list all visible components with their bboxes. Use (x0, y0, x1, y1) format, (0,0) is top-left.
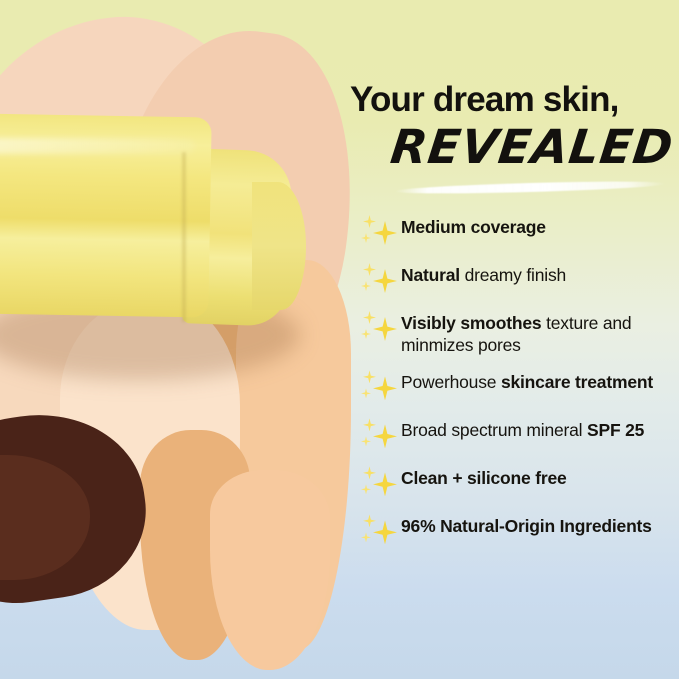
product-tube-highlight (0, 138, 195, 154)
sparkle-icon (359, 466, 401, 500)
feature-bold: 96% Natural-Origin Ingredients (401, 516, 652, 536)
feature-bold: skincare treatment (501, 372, 653, 392)
sparkle-icon (359, 418, 401, 452)
feature-text: Medium coverage (401, 214, 679, 239)
list-item: Natural dreamy finish (345, 262, 679, 297)
feature-bold: Visibly smoothes (401, 313, 541, 333)
feature-list: Medium coverage Natural dreamy finish Vi… (345, 214, 679, 561)
sparkle-icon (359, 311, 401, 345)
product-artwork (0, 0, 360, 679)
feature-regular: Powerhouse (401, 372, 501, 392)
headline-line-2: REVEALED (388, 124, 679, 171)
feature-bold: Clean + silicone free (401, 468, 567, 488)
feature-regular: Broad spectrum mineral (401, 420, 587, 440)
sparkle-icon (359, 263, 401, 297)
feature-regular: dreamy finish (460, 265, 566, 285)
product-tube-cap-tip (252, 182, 306, 310)
sparkle-icon (359, 215, 401, 249)
list-item: Clean + silicone free (345, 465, 679, 500)
feature-text: Broad spectrum mineral SPF 25 (401, 417, 679, 442)
list-item: Powerhouse skincare treatment (345, 369, 679, 404)
marketing-copy-panel: Your dream skin, REVEALED Medium coverag… (345, 0, 679, 679)
sparkle-icon (359, 370, 401, 404)
feature-text: Clean + silicone free (401, 465, 679, 490)
product-marketing-graphic: Your dream skin, REVEALED Medium coverag… (0, 0, 679, 679)
feature-text: Natural dreamy finish (401, 262, 679, 287)
list-item: Visibly smoothes texture and minmizes po… (345, 310, 679, 356)
sparkle-icon (359, 514, 401, 548)
list-item: Medium coverage (345, 214, 679, 249)
feature-bold: Medium coverage (401, 217, 546, 237)
feature-bold: Natural (401, 265, 460, 285)
list-item: 96% Natural-Origin Ingredients (345, 513, 679, 548)
feature-text: Powerhouse skincare treatment (401, 369, 679, 394)
product-tube-seam (182, 152, 186, 322)
feature-text: 96% Natural-Origin Ingredients (401, 513, 679, 538)
headline-line-1: Your dream skin, (350, 82, 670, 117)
feature-bold: SPF 25 (587, 420, 644, 440)
feature-text: Visibly smoothes texture and minmizes po… (401, 310, 679, 356)
list-item: Broad spectrum mineral SPF 25 (345, 417, 679, 452)
brushstroke-underline (395, 179, 665, 196)
